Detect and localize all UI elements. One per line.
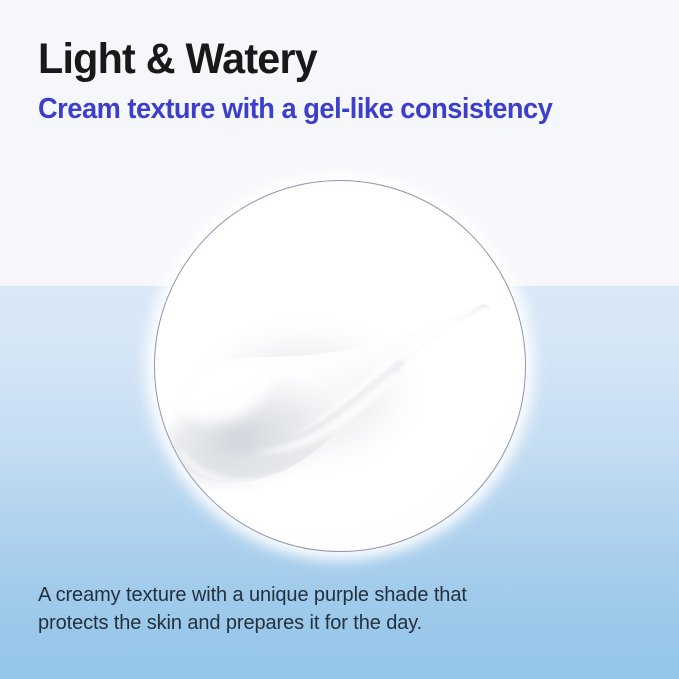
product-texture-infographic: Light & Watery Cream texture with a gel-… — [0, 0, 679, 679]
header-text-block: Light & Watery Cream texture with a gel-… — [38, 36, 658, 126]
caption-text-block: A creamy texture with a unique purple sh… — [38, 581, 638, 638]
texture-circle-container — [154, 180, 526, 552]
product-texture-circle — [154, 180, 526, 552]
cream-swatch-dollop — [155, 181, 526, 552]
page-subtitle: Cream texture with a gel-like consistenc… — [38, 94, 630, 126]
caption-line-2: protects the skin and prepares it for th… — [38, 609, 638, 637]
page-title: Light & Watery — [38, 36, 633, 82]
caption-line-1: A creamy texture with a unique purple sh… — [38, 581, 638, 609]
